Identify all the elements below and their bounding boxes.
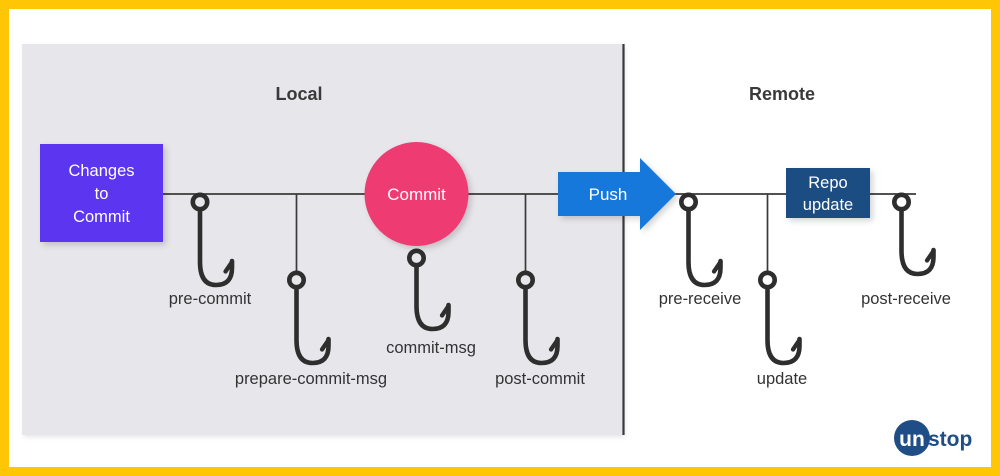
node-repo-update-line1: Repo — [808, 174, 847, 192]
node-changes-to-commit[interactable]: Changes to Commit — [40, 144, 163, 242]
frame-border-top — [0, 0, 1000, 9]
node-repo-update[interactable]: Repo update — [786, 168, 870, 218]
node-commit[interactable]: Commit — [365, 142, 469, 246]
hook-label-pre-receive: pre-receive — [659, 290, 742, 308]
git-hooks-diagram: Local Remote pre-commit prepare-commit-m… — [0, 0, 1000, 476]
node-push-label: Push — [589, 185, 628, 204]
hook-pre-receive — [681, 195, 720, 285]
hook-post-receive — [894, 195, 933, 274]
node-changes-to-commit-line3: Commit — [73, 208, 130, 226]
hook-label-pre-commit: pre-commit — [169, 290, 252, 308]
remote-zone-title: Remote — [749, 84, 815, 104]
local-zone-title: Local — [275, 84, 322, 104]
hook-label-prepare-commit-msg: prepare-commit-msg — [235, 370, 387, 388]
node-commit-label: Commit — [387, 185, 446, 204]
unstop-logo: un stop — [894, 420, 972, 456]
hook-label-post-commit: post-commit — [495, 370, 585, 388]
frame-border-bottom — [0, 467, 1000, 476]
hook-label-commit-msg: commit-msg — [386, 339, 476, 357]
frame-border-left — [0, 0, 9, 476]
unstop-logo-mark: un — [899, 428, 925, 451]
hook-label-post-receive: post-receive — [861, 290, 951, 308]
diagram-canvas: Local Remote pre-commit prepare-commit-m… — [0, 0, 1000, 476]
hook-update — [760, 273, 799, 363]
node-changes-to-commit-line1: Changes — [68, 162, 134, 180]
frame-border-right — [991, 0, 1000, 476]
unstop-logo-word: stop — [928, 428, 972, 451]
node-changes-to-commit-line2: to — [95, 185, 109, 203]
hook-label-update: update — [757, 370, 807, 388]
node-repo-update-line2: update — [803, 196, 853, 214]
